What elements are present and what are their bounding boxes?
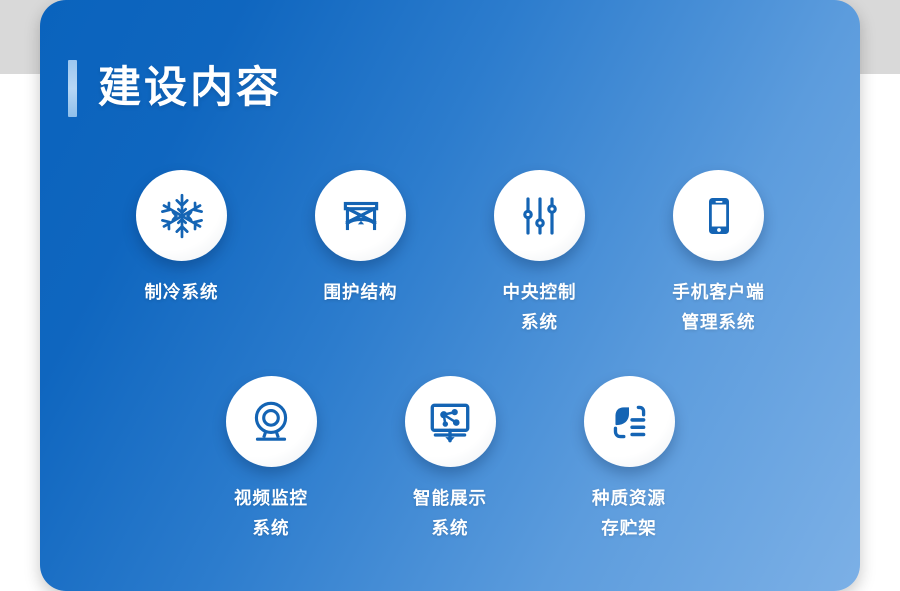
frame-structure-icon: [336, 191, 386, 241]
sliders-icon: [516, 192, 564, 240]
webcam-icon: [246, 397, 296, 447]
leaf-shelf-icon: [604, 397, 654, 447]
item-envelope-structure[interactable]: 围护结构: [271, 170, 450, 337]
item-mobile-client-management-system[interactable]: 手机客户端 管理系统: [629, 170, 808, 337]
icon-circle[interactable]: [315, 170, 406, 261]
item-label: 制冷系统: [145, 277, 219, 307]
icon-circle[interactable]: [494, 170, 585, 261]
display-network-icon: [425, 397, 475, 447]
item-germplasm-storage-rack[interactable]: 种质资源 存贮架: [540, 376, 719, 543]
icon-circle[interactable]: [226, 376, 317, 467]
smartphone-icon: [695, 192, 743, 240]
item-refrigeration-system[interactable]: 制冷系统: [92, 170, 271, 337]
item-label: 手机客户端 管理系统: [672, 277, 765, 337]
title-accent-bar: [68, 60, 77, 117]
item-smart-display-system[interactable]: 智能展示 系统: [361, 376, 540, 543]
item-label: 种质资源 存贮架: [592, 483, 666, 543]
item-row-top: 制冷系统 围护结构: [40, 170, 860, 337]
page-title-text: 建设内容: [98, 67, 282, 110]
item-label: 智能展示 系统: [413, 483, 487, 543]
icon-circle[interactable]: [136, 170, 227, 261]
item-label: 视频监控 系统: [234, 483, 308, 543]
construction-content-panel: 建设内容: [40, 0, 860, 591]
icon-circle[interactable]: [584, 376, 675, 467]
item-row-bottom: 视频监控 系统: [40, 376, 860, 543]
item-label: 围护结构: [324, 277, 398, 307]
snowflake-icon: [157, 191, 207, 241]
item-label: 中央控制 系统: [503, 277, 577, 337]
item-video-surveillance-system[interactable]: 视频监控 系统: [182, 376, 361, 543]
icon-circle[interactable]: [673, 170, 764, 261]
icon-circle[interactable]: [405, 376, 496, 467]
item-central-control-system[interactable]: 中央控制 系统: [450, 170, 629, 337]
page-title: 建设内容: [68, 60, 282, 117]
